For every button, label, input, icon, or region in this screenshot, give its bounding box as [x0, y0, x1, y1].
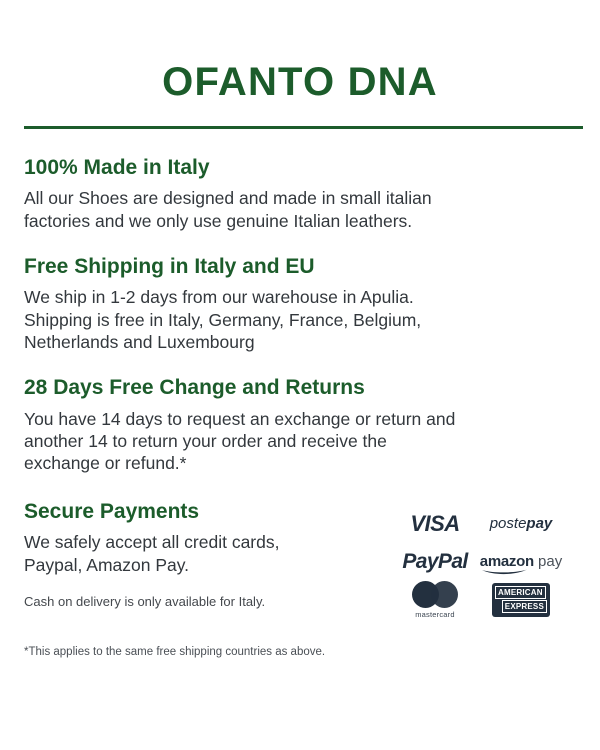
section-body: You have 14 days to request an exchange … — [24, 408, 564, 475]
section-heading: 28 Days Free Change and Returns — [24, 375, 576, 401]
visa-icon: VISA — [410, 511, 459, 537]
section-body: We ship in 1-2 days from our warehouse i… — [24, 286, 564, 353]
mastercard-logo-cell: mastercard — [398, 581, 472, 619]
mastercard-label: mastercard — [415, 610, 455, 619]
payment-logo-row: mastercard AMERICAN EXPRESS — [398, 581, 570, 619]
amazon-swoosh-icon — [481, 568, 529, 575]
postepay-label-light: poste — [490, 515, 527, 532]
section-body-line: factories and we only use genuine Italia… — [24, 210, 564, 232]
section-heading: Free Shipping in Italy and EU — [24, 254, 576, 280]
section-body-line: Paypal, Amazon Pay. — [24, 554, 279, 576]
amex-line-2: EXPRESS — [502, 600, 547, 613]
payment-logo-row: VISA postepay — [398, 505, 570, 543]
sections-container: 100% Made in Italy All our Shoes are des… — [0, 155, 600, 619]
section-secure-payments: Secure Payments We safely accept all cre… — [24, 499, 576, 619]
amazon-pay-icon: amazon pay — [480, 554, 562, 569]
paypal-logo-cell: PayPal — [398, 550, 472, 574]
section-heading: Secure Payments — [24, 499, 279, 525]
postepay-label-bold: pay — [526, 515, 552, 532]
section-body-line: You have 14 days to request an exchange … — [24, 408, 564, 430]
section-body-line: Netherlands and Luxembourg — [24, 331, 564, 353]
secure-payments-text: Secure Payments We safely accept all cre… — [24, 499, 279, 611]
mastercard-icon: mastercard — [412, 581, 458, 619]
postepay-icon: postepay — [490, 515, 553, 532]
section-body-line: Shipping is free in Italy, Germany, Fran… — [24, 309, 564, 331]
section-body: All our Shoes are designed and made in s… — [24, 187, 564, 232]
postepay-logo-cell: postepay — [484, 515, 558, 532]
section-free-shipping: Free Shipping in Italy and EU We ship in… — [24, 254, 576, 353]
section-made-in-italy: 100% Made in Italy All our Shoes are des… — [24, 155, 576, 232]
section-body-line: All our Shoes are designed and made in s… — [24, 187, 564, 209]
page-title: OFANTO DNA — [0, 0, 600, 104]
payment-logo-row: PayPal amazon pay — [398, 543, 570, 581]
paypal-icon: PayPal — [402, 550, 467, 574]
mastercard-circle-right — [431, 581, 458, 608]
visa-logo-cell: VISA — [398, 511, 472, 537]
mastercard-circles-icon — [412, 581, 458, 608]
section-free-change-returns: 28 Days Free Change and Returns You have… — [24, 375, 576, 474]
cash-on-delivery-note: Cash on delivery is only available for I… — [24, 594, 279, 611]
amazon-pay-word: pay — [538, 553, 562, 570]
amazon-pay-logo-cell: amazon pay — [484, 554, 558, 569]
section-heading: 100% Made in Italy — [24, 155, 576, 181]
footnote: *This applies to the same free shipping … — [0, 645, 600, 660]
amex-line-1: AMERICAN — [495, 586, 546, 599]
section-body-line: another 14 to return your order and rece… — [24, 430, 564, 452]
ofanto-dna-info-panel: OFANTO DNA 100% Made in Italy All our Sh… — [0, 0, 600, 750]
section-body-line: We ship in 1-2 days from our warehouse i… — [24, 286, 564, 308]
section-body-line: We safely accept all credit cards, — [24, 531, 279, 553]
american-express-logo-cell: AMERICAN EXPRESS — [484, 583, 558, 617]
section-body: We safely accept all credit cards, Paypa… — [24, 531, 279, 576]
section-body-line: exchange or refund.* — [24, 452, 564, 474]
title-divider — [24, 126, 583, 129]
american-express-icon: AMERICAN EXPRESS — [492, 583, 550, 617]
payment-logos: VISA postepay PayPal amazon pay — [398, 499, 576, 619]
